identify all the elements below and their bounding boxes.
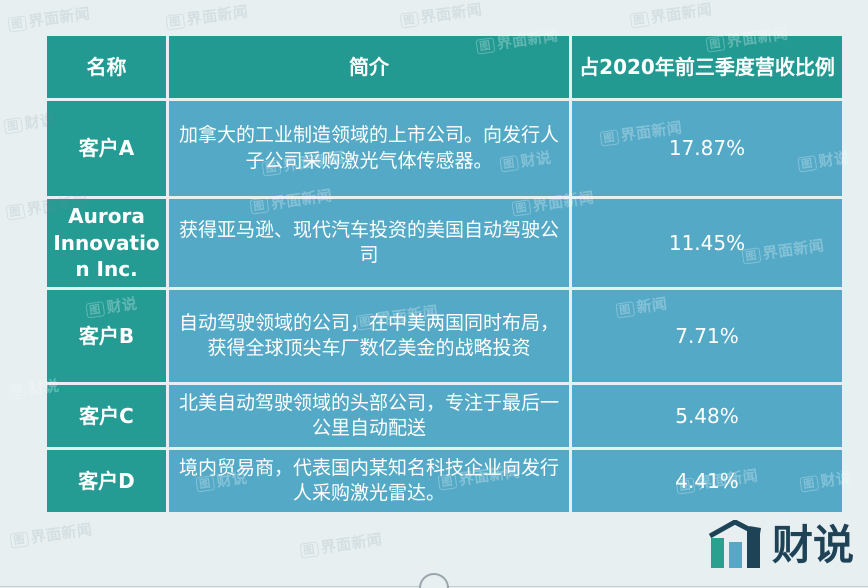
column-header-name: 名称: [47, 36, 166, 98]
table-header-row: 名称 简介 占2020年前三季度营收比例: [47, 36, 842, 98]
cell-customer-name: 客户C: [47, 385, 166, 447]
cell-revenue-share: 7.71%: [572, 290, 842, 382]
cell-customer-desc: 加拿大的工业制造领域的上市公司。向发行人子公司采购激光气体传感器。: [169, 101, 569, 196]
logo-text: 财说: [772, 525, 854, 566]
cell-customer-name: Aurora Innovation Inc.: [47, 199, 166, 287]
table-row: 客户A 加拿大的工业制造领域的上市公司。向发行人子公司采购激光气体传感器。 17…: [47, 101, 842, 196]
bar-chart-growth-icon: [709, 520, 765, 570]
watermark: 图界面新闻: [9, 518, 94, 550]
watermark: 图界面新闻: [165, 0, 250, 32]
cell-customer-desc: 北美自动驾驶领域的头部公司，专注于最后一公里自动配送: [169, 385, 569, 447]
watermark: 图界面新闻: [629, 0, 714, 31]
caishuo-logo: 财说: [709, 520, 854, 570]
table-row: 客户D 境内贸易商，代表国内某知名科技企业向发行人采购激光雷达。 4.41%: [47, 450, 842, 512]
cell-revenue-share: 4.41%: [572, 450, 842, 512]
cell-customer-name: 客户D: [47, 450, 166, 512]
cell-customer-desc: 获得亚马逊、现代汽车投资的美国自动驾驶公司: [169, 199, 569, 287]
cell-revenue-share: 11.45%: [572, 199, 842, 287]
cell-customer-name: 客户B: [47, 290, 166, 382]
table-header: 名称 简介 占2020年前三季度营收比例: [47, 36, 842, 98]
table-body: 客户A 加拿大的工业制造领域的上市公司。向发行人子公司采购激光气体传感器。 17…: [47, 101, 842, 512]
customer-revenue-table: 名称 简介 占2020年前三季度营收比例 客户A 加拿大的工业制造领域的上市公司…: [44, 33, 845, 515]
column-header-share: 占2020年前三季度营收比例: [572, 36, 842, 98]
cell-customer-name: 客户A: [47, 101, 166, 196]
bottom-circle-artifact: [419, 573, 449, 588]
column-header-desc: 简介: [169, 36, 569, 98]
table-row: 客户B 自动驾驶领域的公司，在中美两国同时布局，获得全球顶尖车厂数亿美金的战略投…: [47, 290, 842, 382]
cell-customer-desc: 境内贸易商，代表国内某知名科技企业向发行人采购激光雷达。: [169, 450, 569, 512]
watermark: 图界面新闻: [399, 0, 484, 31]
cell-revenue-share: 17.87%: [572, 101, 842, 196]
watermark: 图界面新闻: [299, 528, 384, 560]
watermark: 图界面新闻: [7, 2, 92, 34]
table-row: Aurora Innovation Inc. 获得亚马逊、现代汽车投资的美国自动…: [47, 199, 842, 287]
cell-revenue-share: 5.48%: [572, 385, 842, 447]
cell-customer-desc: 自动驾驶领域的公司，在中美两国同时布局，获得全球顶尖车厂数亿美金的战略投资: [169, 290, 569, 382]
table-row: 客户C 北美自动驾驶领域的头部公司，专注于最后一公里自动配送 5.48%: [47, 385, 842, 447]
customer-revenue-table-container: 名称 简介 占2020年前三季度营收比例 客户A 加拿大的工业制造领域的上市公司…: [44, 33, 833, 503]
